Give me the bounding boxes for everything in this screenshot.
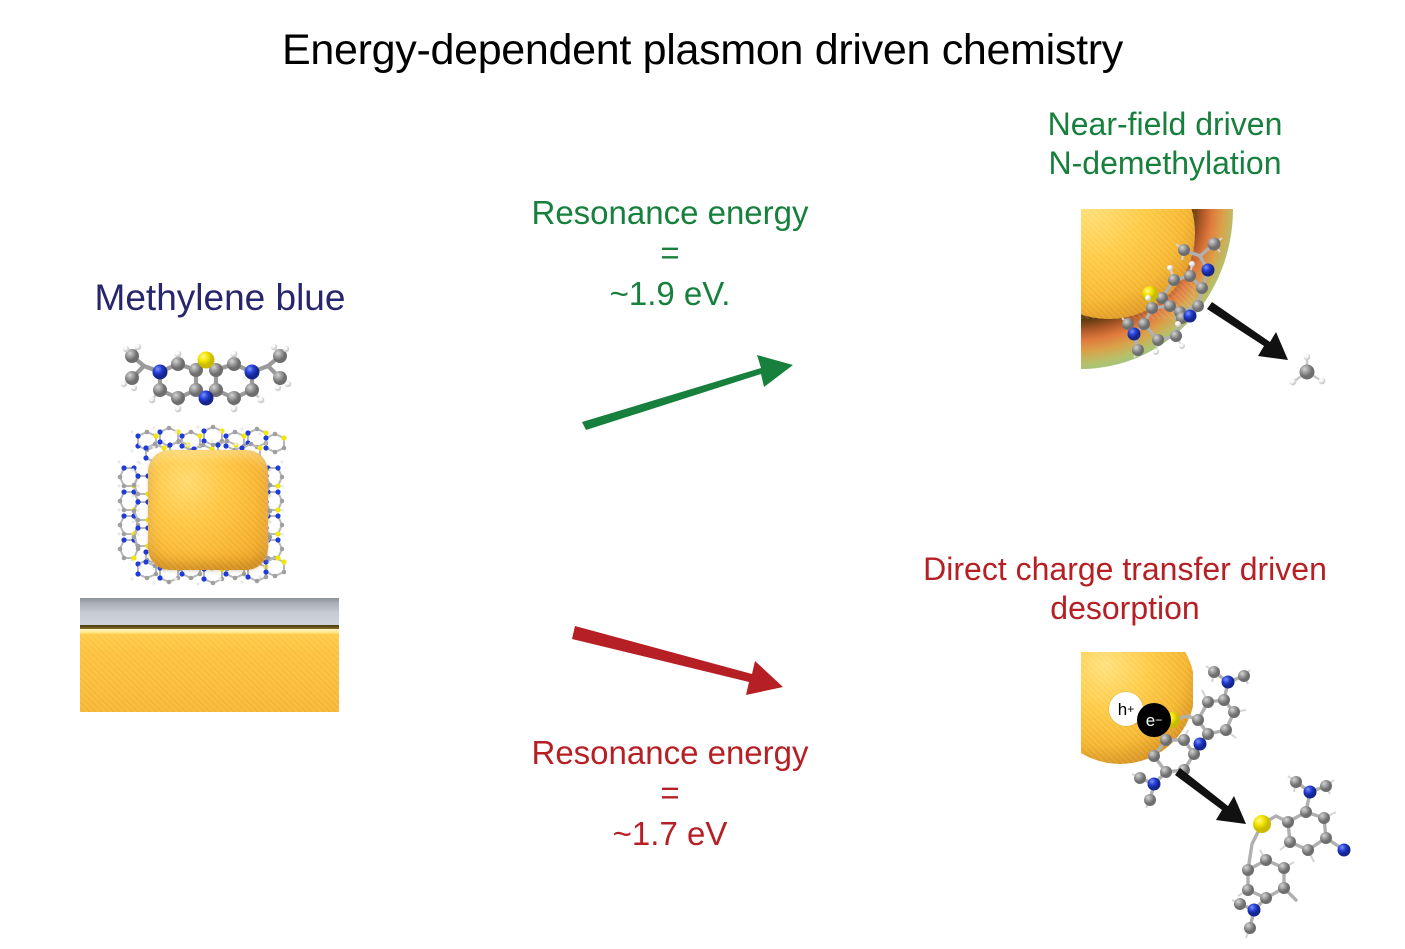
near-field-outcome-label: Near-field driven N-demethylation <box>1000 105 1330 183</box>
electron-charge-superscript: − <box>1155 714 1162 726</box>
methyl-radical-product <box>1284 348 1330 392</box>
desorbed-methylene-blue-product <box>1196 758 1386 948</box>
charge-transfer-line-1: Direct charge transfer driven <box>875 550 1375 589</box>
gold-nanocube-assembly <box>120 424 296 596</box>
green-energy-line-2: = <box>470 233 870 273</box>
near-field-line-1: Near-field driven <box>1000 105 1330 144</box>
figure-canvas: Energy-dependent plasmon driven chemistr… <box>0 0 1405 949</box>
gold-nanocube <box>148 450 268 570</box>
electron-badge: e− <box>1137 703 1171 737</box>
green-energy-line-3: ~1.9 eV. <box>470 274 870 314</box>
near-field-line-2: N-demethylation <box>1000 144 1330 183</box>
methylene-blue-label: Methylene blue <box>0 277 440 319</box>
red-energy-line-3: ~1.7 eV <box>470 814 870 854</box>
green-pathway-arrow <box>565 340 815 440</box>
red-energy-line-2: = <box>470 773 870 813</box>
red-resonance-energy-label: Resonance energy = ~1.7 eV <box>470 733 870 854</box>
electron-symbol: e <box>1146 712 1155 729</box>
silver-spacer-layer <box>80 598 339 625</box>
red-pathway-arrow <box>565 608 815 708</box>
substrate-stack <box>80 598 339 712</box>
figure-title: Energy-dependent plasmon driven chemistr… <box>0 26 1405 75</box>
charge-transfer-line-2: desorption <box>875 589 1375 628</box>
gold-film-substrate <box>80 634 339 712</box>
charge-transfer-outcome-label: Direct charge transfer driven desorption <box>875 550 1375 628</box>
green-energy-line-1: Resonance energy <box>470 193 870 233</box>
hole-charge-superscript: + <box>1127 703 1134 715</box>
hole-symbol: h <box>1118 701 1127 718</box>
methylene-blue-molecule <box>108 332 304 416</box>
green-resonance-energy-label: Resonance energy = ~1.9 eV. <box>470 193 870 314</box>
red-energy-line-1: Resonance energy <box>470 733 870 773</box>
